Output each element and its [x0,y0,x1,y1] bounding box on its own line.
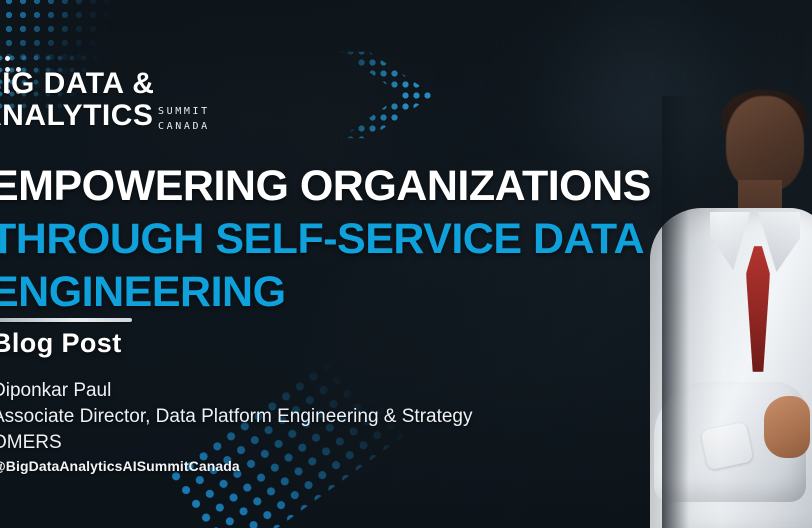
speaker-name: Diponkar Paul [0,378,473,404]
kicker-divider [0,318,132,322]
event-promo-banner: BIG DATA & ANALYTICS SUMMIT CANADA EMPOW… [0,0,812,528]
logo-subtitle-line2: CANADA [158,119,210,134]
headline-line-2: THROUGH SELF-SERVICE DATA [0,213,780,266]
logo-wordmark-line2: ANALYTICS [0,100,154,132]
logo-wordmark-line1: BIG DATA & [0,68,154,100]
speaker-hand [764,396,810,458]
social-handle: @BigDataAnalyticsAISummitCanada [0,458,240,474]
speaker-job-title: Associate Director, Data Platform Engine… [0,404,473,430]
logo-wordmark: BIG DATA & ANALYTICS [0,68,154,132]
headline-line-1: EMPOWERING ORGANIZATIONS [0,160,780,213]
page-title: EMPOWERING ORGANIZATIONS THROUGH SELF-SE… [0,160,780,319]
logo-subtitle-line1: SUMMIT [158,104,210,119]
speaker-details: Diponkar Paul Associate Director, Data P… [0,378,473,456]
logo-subtitle: SUMMIT CANADA [158,104,210,134]
headline-line-3: ENGINEERING [0,266,780,319]
speaker-organization: OMERS [0,430,473,456]
content-type-label: Blog Post [0,328,122,359]
